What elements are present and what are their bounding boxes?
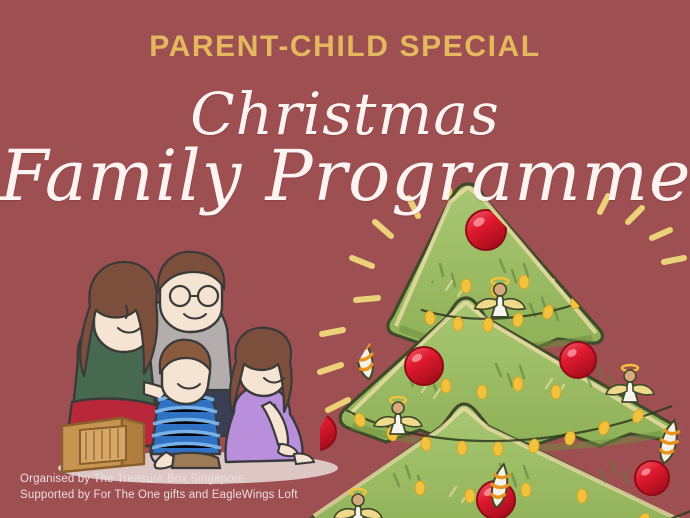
cardboard-box-prop [62,418,144,472]
title-line-2: Family Programme [0,135,690,217]
poster-canvas: PARENT-CHILD SPECIAL Christmas Family Pr… [0,0,690,518]
family-illustration [48,240,348,495]
christmas-tree-illustration [300,178,690,518]
family-member-girl [225,328,314,464]
credits-line-supported: Supported by For The One gifts and Eagle… [20,488,298,504]
kicker-heading: PARENT-CHILD SPECIAL [0,30,690,64]
credits-block: Organised by The Treasure Box Singapore … [20,472,298,503]
credits-line-organised: Organised by The Treasure Box Singapore [20,472,298,488]
family-member-boy [151,340,221,469]
